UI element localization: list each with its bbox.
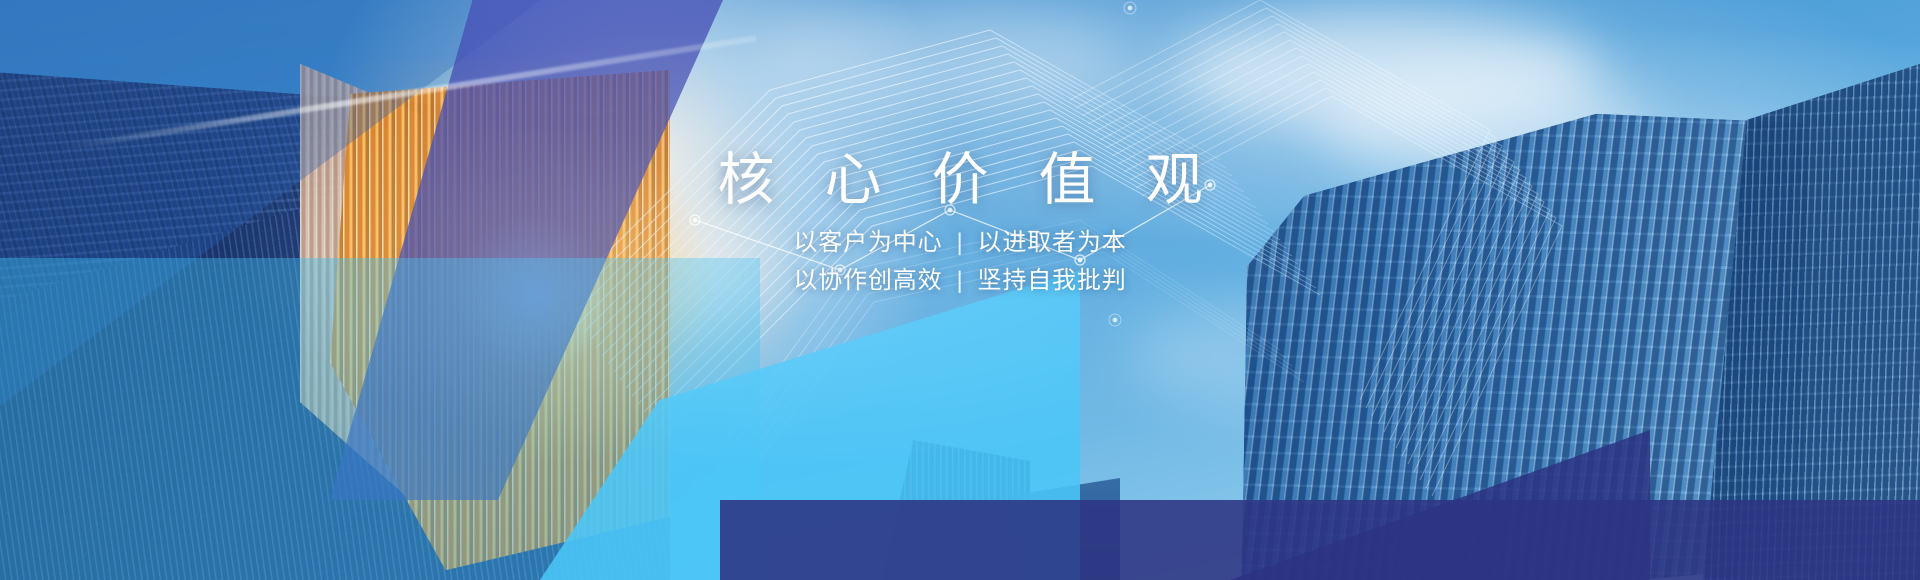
page-title: 核 心 价 值 观 bbox=[700, 152, 1219, 209]
value-divider: | bbox=[942, 269, 977, 293]
value-divider: | bbox=[942, 231, 977, 255]
value-collaboration-efficiency: 以协作创高效 bbox=[793, 267, 942, 294]
values-line-1: 以客户为中心|以进取者为本 bbox=[793, 231, 1126, 255]
values-line-2: 以协作创高效|坚持自我批判 bbox=[793, 269, 1126, 293]
banner-text-block: 核 心 价 值 观 以客户为中心|以进取者为本 以协作创高效|坚持自我批判 bbox=[0, 0, 1920, 580]
value-self-reflection: 坚持自我批判 bbox=[978, 267, 1127, 294]
core-values-banner: 核 心 价 值 观 以客户为中心|以进取者为本 以协作创高效|坚持自我批判 bbox=[0, 0, 1920, 580]
value-striver-oriented: 以进取者为本 bbox=[978, 229, 1127, 256]
value-customer-centric: 以客户为中心 bbox=[793, 229, 942, 256]
